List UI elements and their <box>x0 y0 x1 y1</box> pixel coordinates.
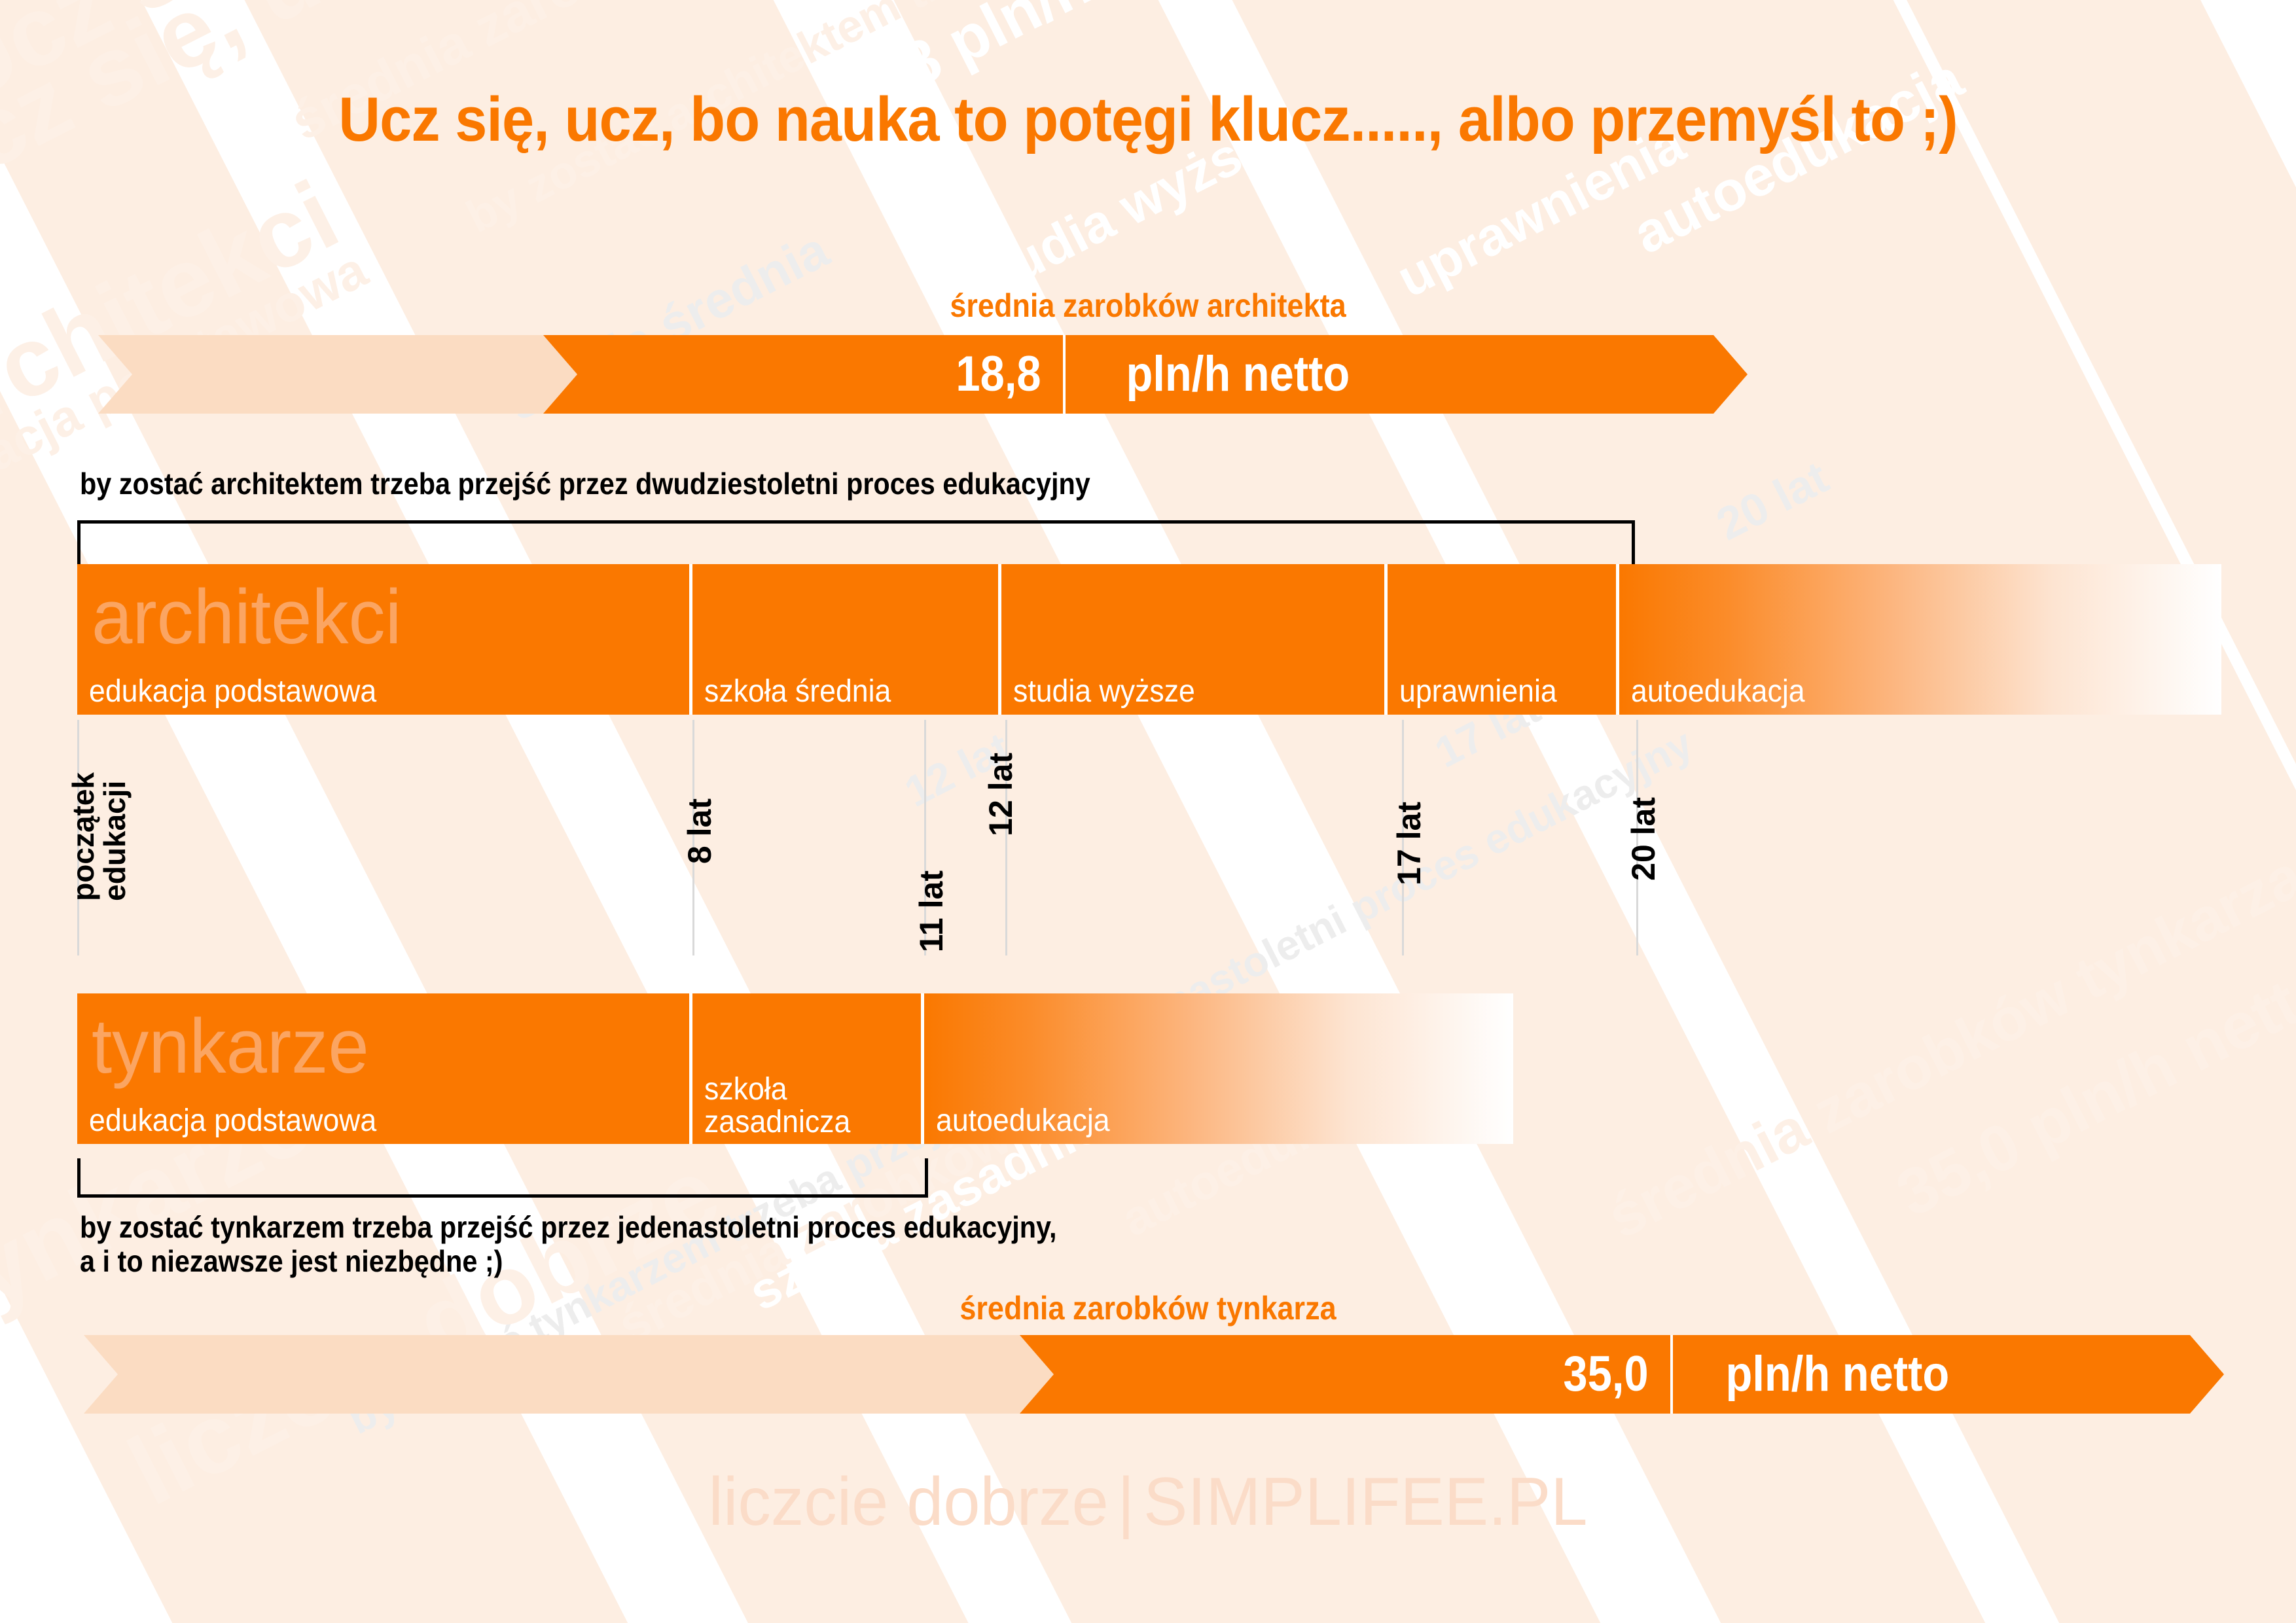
plasterer-banner-backdrop <box>84 1335 1144 1414</box>
architect-wage-divider <box>1063 335 1066 414</box>
plasterer-banner-arrow: 35,0 pln/h netto <box>1020 1335 2224 1414</box>
plasterer-bracket <box>77 1158 928 1198</box>
plasterer-segment-0: tynkarze edukacja podstawowa <box>77 993 692 1144</box>
architect-segment-0: architekci edukacja podstawowa <box>77 564 692 715</box>
architect-segment-4: autoedukacja <box>1619 564 2221 715</box>
footer-branding: liczcie dobrze|SIMPLIFEE.PL <box>35 1463 2262 1541</box>
architect-segment-3: uprawnienia <box>1388 564 1619 715</box>
architect-group-name: architekci <box>92 579 401 656</box>
plasterer-wage-value: 35,0 <box>1563 1349 1663 1399</box>
architect-segment-2-label: studia wyższe <box>1013 675 1195 708</box>
page-title: Ucz się, ucz, bo nauka to potęgi klucz..… <box>92 84 2204 156</box>
plasterer-segment-2: autoedukacja <box>924 993 1513 1144</box>
plasterer-caption-line2: a i to niezawsze jest niezbędne ;) <box>80 1243 503 1279</box>
timeline-marker-11lat: 11 lat <box>912 870 950 952</box>
plasterer-bar: tynkarze edukacja podstawowa szkoła zasa… <box>77 993 1517 1144</box>
plasterer-caption-line1: by zostać tynkarzem trzeba przejść przez… <box>80 1209 1056 1245</box>
footer-brand: SIMPLIFEE.PL <box>1143 1464 1587 1540</box>
architect-wage-unit: pln/h netto <box>1106 349 1706 399</box>
timeline-marker-8lat: 8 lat <box>681 798 719 864</box>
watermark-word: autoedukacja <box>1623 46 1973 267</box>
plasterer-wage-label: średnia zarobków tynkarza <box>115 1289 2181 1327</box>
plasterer-segment-1-label: szkoła zasadnicza <box>704 1073 850 1139</box>
timeline-marker-12lat: 12 lat <box>982 753 1020 836</box>
watermark-word: 20 lat <box>1708 451 1837 551</box>
plasterer-segment-0-label: edukacja podstawowa <box>89 1105 376 1137</box>
timeline-marker-20lat: 20 lat <box>1624 797 1662 881</box>
plasterer-wage-divider <box>1670 1335 1673 1414</box>
footer-slogan: liczcie dobrze <box>709 1464 1109 1540</box>
plasterer-segment-1: szkoła zasadnicza <box>692 993 924 1144</box>
architect-bar: architekci edukacja podstawowa szkoła śr… <box>77 564 2224 715</box>
timeline-start-label: początek edukacji <box>68 772 131 901</box>
footer-separator: | <box>1109 1464 1143 1540</box>
architect-banner-arrow: 18,8 pln/h netto <box>543 335 1748 414</box>
architect-segment-1-label: szkoła średnia <box>704 675 891 708</box>
architect-wage-label: średnia zarobków architekta <box>115 287 2181 325</box>
architect-segment-0-label: edukacja podstawowa <box>89 675 376 708</box>
architect-segment-3-label: uprawnienia <box>1399 675 1557 708</box>
plasterer-segment-2-label: autoedukacja <box>936 1105 1110 1137</box>
architect-segment-2: studia wyższe <box>1001 564 1388 715</box>
architect-segment-4-label: autoedukacja <box>1631 675 1805 708</box>
architect-segment-1: szkoła średnia <box>692 564 1001 715</box>
watermark-word: 35,0 pln/h netto <box>1885 947 2296 1232</box>
architect-caption: by zostać architektem trzeba przejść prz… <box>80 466 1090 501</box>
architect-bracket <box>77 520 1635 567</box>
timeline-marker-17lat: 17 lat <box>1390 802 1428 885</box>
architect-wage-value: 18,8 <box>956 349 1056 399</box>
watermark-word: średnia zarobków tynkarza <box>1597 842 2296 1252</box>
plasterer-wage-unit: pln/h netto <box>1706 1349 2191 1399</box>
plasterer-group-name: tynkarze <box>92 1008 369 1085</box>
